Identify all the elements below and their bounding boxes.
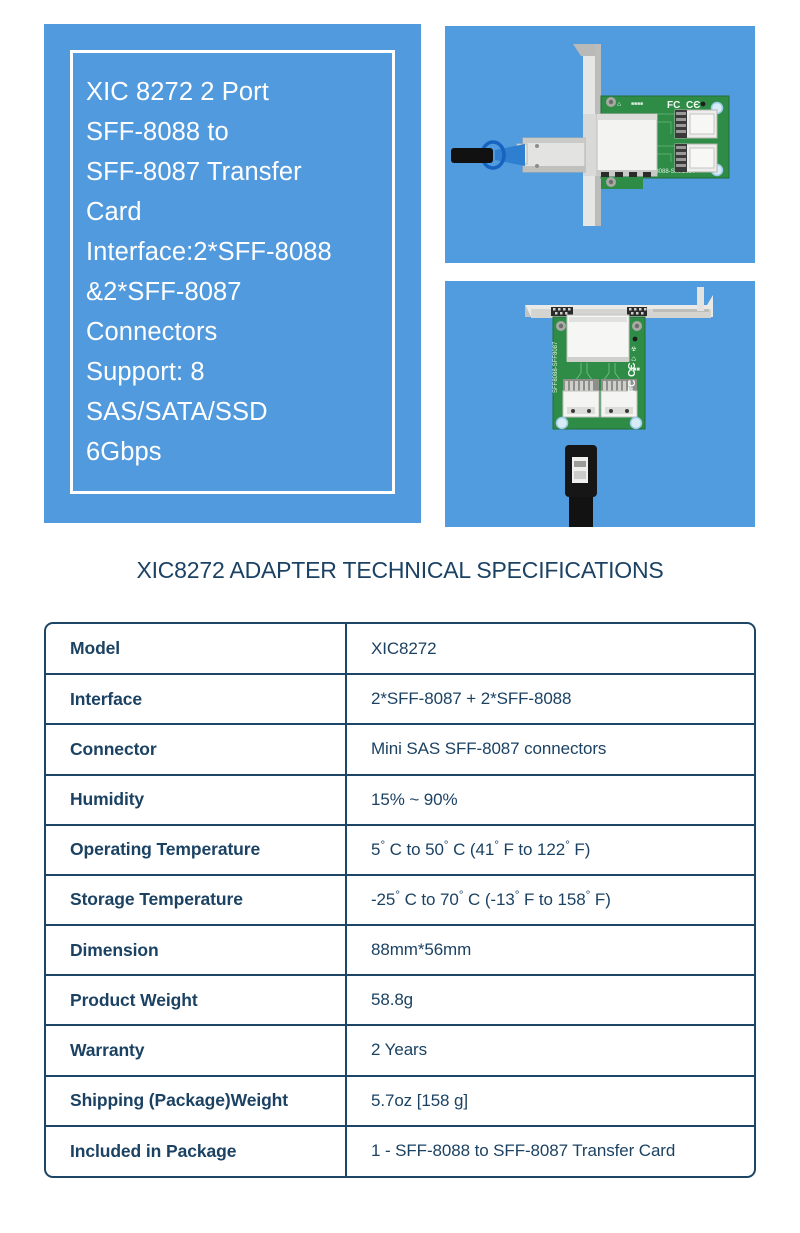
table-row: Dimension88mm*56mm — [46, 925, 754, 975]
svg-text:FC: FC — [667, 100, 680, 111]
table-row: Warranty2 Years — [46, 1025, 754, 1075]
spec-value-cell: 88mm*56mm — [346, 925, 754, 975]
svg-text:♺: ♺ — [631, 356, 636, 363]
spec-key-cell: Interface — [46, 674, 346, 724]
product-headline-text: XIC 8272 2 Port SFF-8088 to SFF-8087 Tra… — [86, 72, 411, 472]
table-row: Interface2*SFF-8087 + 2*SFF-8088 — [46, 674, 754, 724]
product-photo-1-art: ☢ ♺ ■■■■ ▫▫ ▫▫ SFF8088-SFF8087 FC CЄ — [445, 26, 755, 263]
spec-key-cell: Dimension — [46, 925, 346, 975]
spec-value-cell: 1 - SFF-8088 to SFF-8087 Transfer Card — [346, 1126, 754, 1176]
spec-key-cell: Included in Package — [46, 1126, 346, 1176]
table-row: Humidity15% ~ 90% — [46, 775, 754, 825]
svg-text:■■■■: ■■■■ — [631, 101, 643, 107]
hero-section: XIC 8272 2 Port SFF-8088 to SFF-8087 Tra… — [0, 0, 800, 534]
spec-table-title: XIC8272 ADAPTER TECHNICAL SPECIFICATIONS — [0, 557, 800, 584]
spec-table-body: ModelXIC8272Interface2*SFF-8087 + 2*SFF-… — [46, 624, 754, 1176]
svg-text:♺: ♺ — [617, 102, 622, 108]
spec-value-cell: XIC8272 — [346, 624, 754, 674]
spec-key-cell: Storage Temperature — [46, 875, 346, 925]
spec-value-cell: 2 Years — [346, 1025, 754, 1075]
spec-key-cell: Connector — [46, 724, 346, 774]
spec-key-cell: Product Weight — [46, 975, 346, 1025]
product-headline-panel: XIC 8272 2 Port SFF-8088 to SFF-8087 Tra… — [44, 24, 421, 523]
spec-table-container: ModelXIC8272Interface2*SFF-8087 + 2*SFF-… — [44, 622, 756, 1178]
table-row: Product Weight58.8g — [46, 975, 754, 1025]
spec-value-cell: 15% ~ 90% — [346, 775, 754, 825]
table-row: ConnectorMini SAS SFF-8087 connectors — [46, 724, 754, 774]
svg-text:SFF8088-SFF8087: SFF8088-SFF8087 — [553, 341, 559, 393]
spec-value-cell: Mini SAS SFF-8087 connectors — [346, 724, 754, 774]
svg-text:■■■: ■■■ — [629, 367, 640, 373]
spec-table: ModelXIC8272Interface2*SFF-8087 + 2*SFF-… — [46, 624, 754, 1176]
table-row: Operating Temperature5° C to 50° C (41° … — [46, 825, 754, 875]
spec-value-cell: 58.8g — [346, 975, 754, 1025]
spec-value-cell: -25° C to 70° C (-13° F to 158° F) — [346, 875, 754, 925]
product-photo-1: ☢ ♺ ■■■■ ▫▫ ▫▫ SFF8088-SFF8087 FC CЄ — [445, 26, 755, 263]
spec-value-cell: 5° C to 50° C (41° F to 122° F) — [346, 825, 754, 875]
spec-key-cell: Shipping (Package)Weight — [46, 1076, 346, 1126]
table-row: Included in Package1 - SFF-8088 to SFF-8… — [46, 1126, 754, 1176]
spec-key-cell: Model — [46, 624, 346, 674]
spec-key-cell: Warranty — [46, 1025, 346, 1075]
spec-key-cell: Operating Temperature — [46, 825, 346, 875]
product-photo-2-art: SFF8088-SFF8087 FC CЄ ☢ ♺ ■■■ — [445, 281, 755, 527]
spec-key-cell: Humidity — [46, 775, 346, 825]
sas-adapter-front-view-illustration: SFF8088-SFF8087 FC CЄ ☢ ♺ ■■■ — [445, 281, 755, 527]
spec-value-cell: 2*SFF-8087 + 2*SFF-8088 — [346, 674, 754, 724]
table-row: Shipping (Package)Weight5.7oz [158 g] — [46, 1076, 754, 1126]
svg-text:☢: ☢ — [631, 346, 636, 353]
sas-adapter-side-view-illustration: ☢ ♺ ■■■■ ▫▫ ▫▫ SFF8088-SFF8087 FC CЄ — [445, 26, 755, 263]
spec-value-cell: 5.7oz [158 g] — [346, 1076, 754, 1126]
product-photo-2: SFF8088-SFF8087 FC CЄ ☢ ♺ ■■■ — [445, 281, 755, 527]
table-row: ModelXIC8272 — [46, 624, 754, 674]
svg-text:CЄ: CЄ — [686, 100, 700, 111]
table-row: Storage Temperature-25° C to 70° C (-13°… — [46, 875, 754, 925]
